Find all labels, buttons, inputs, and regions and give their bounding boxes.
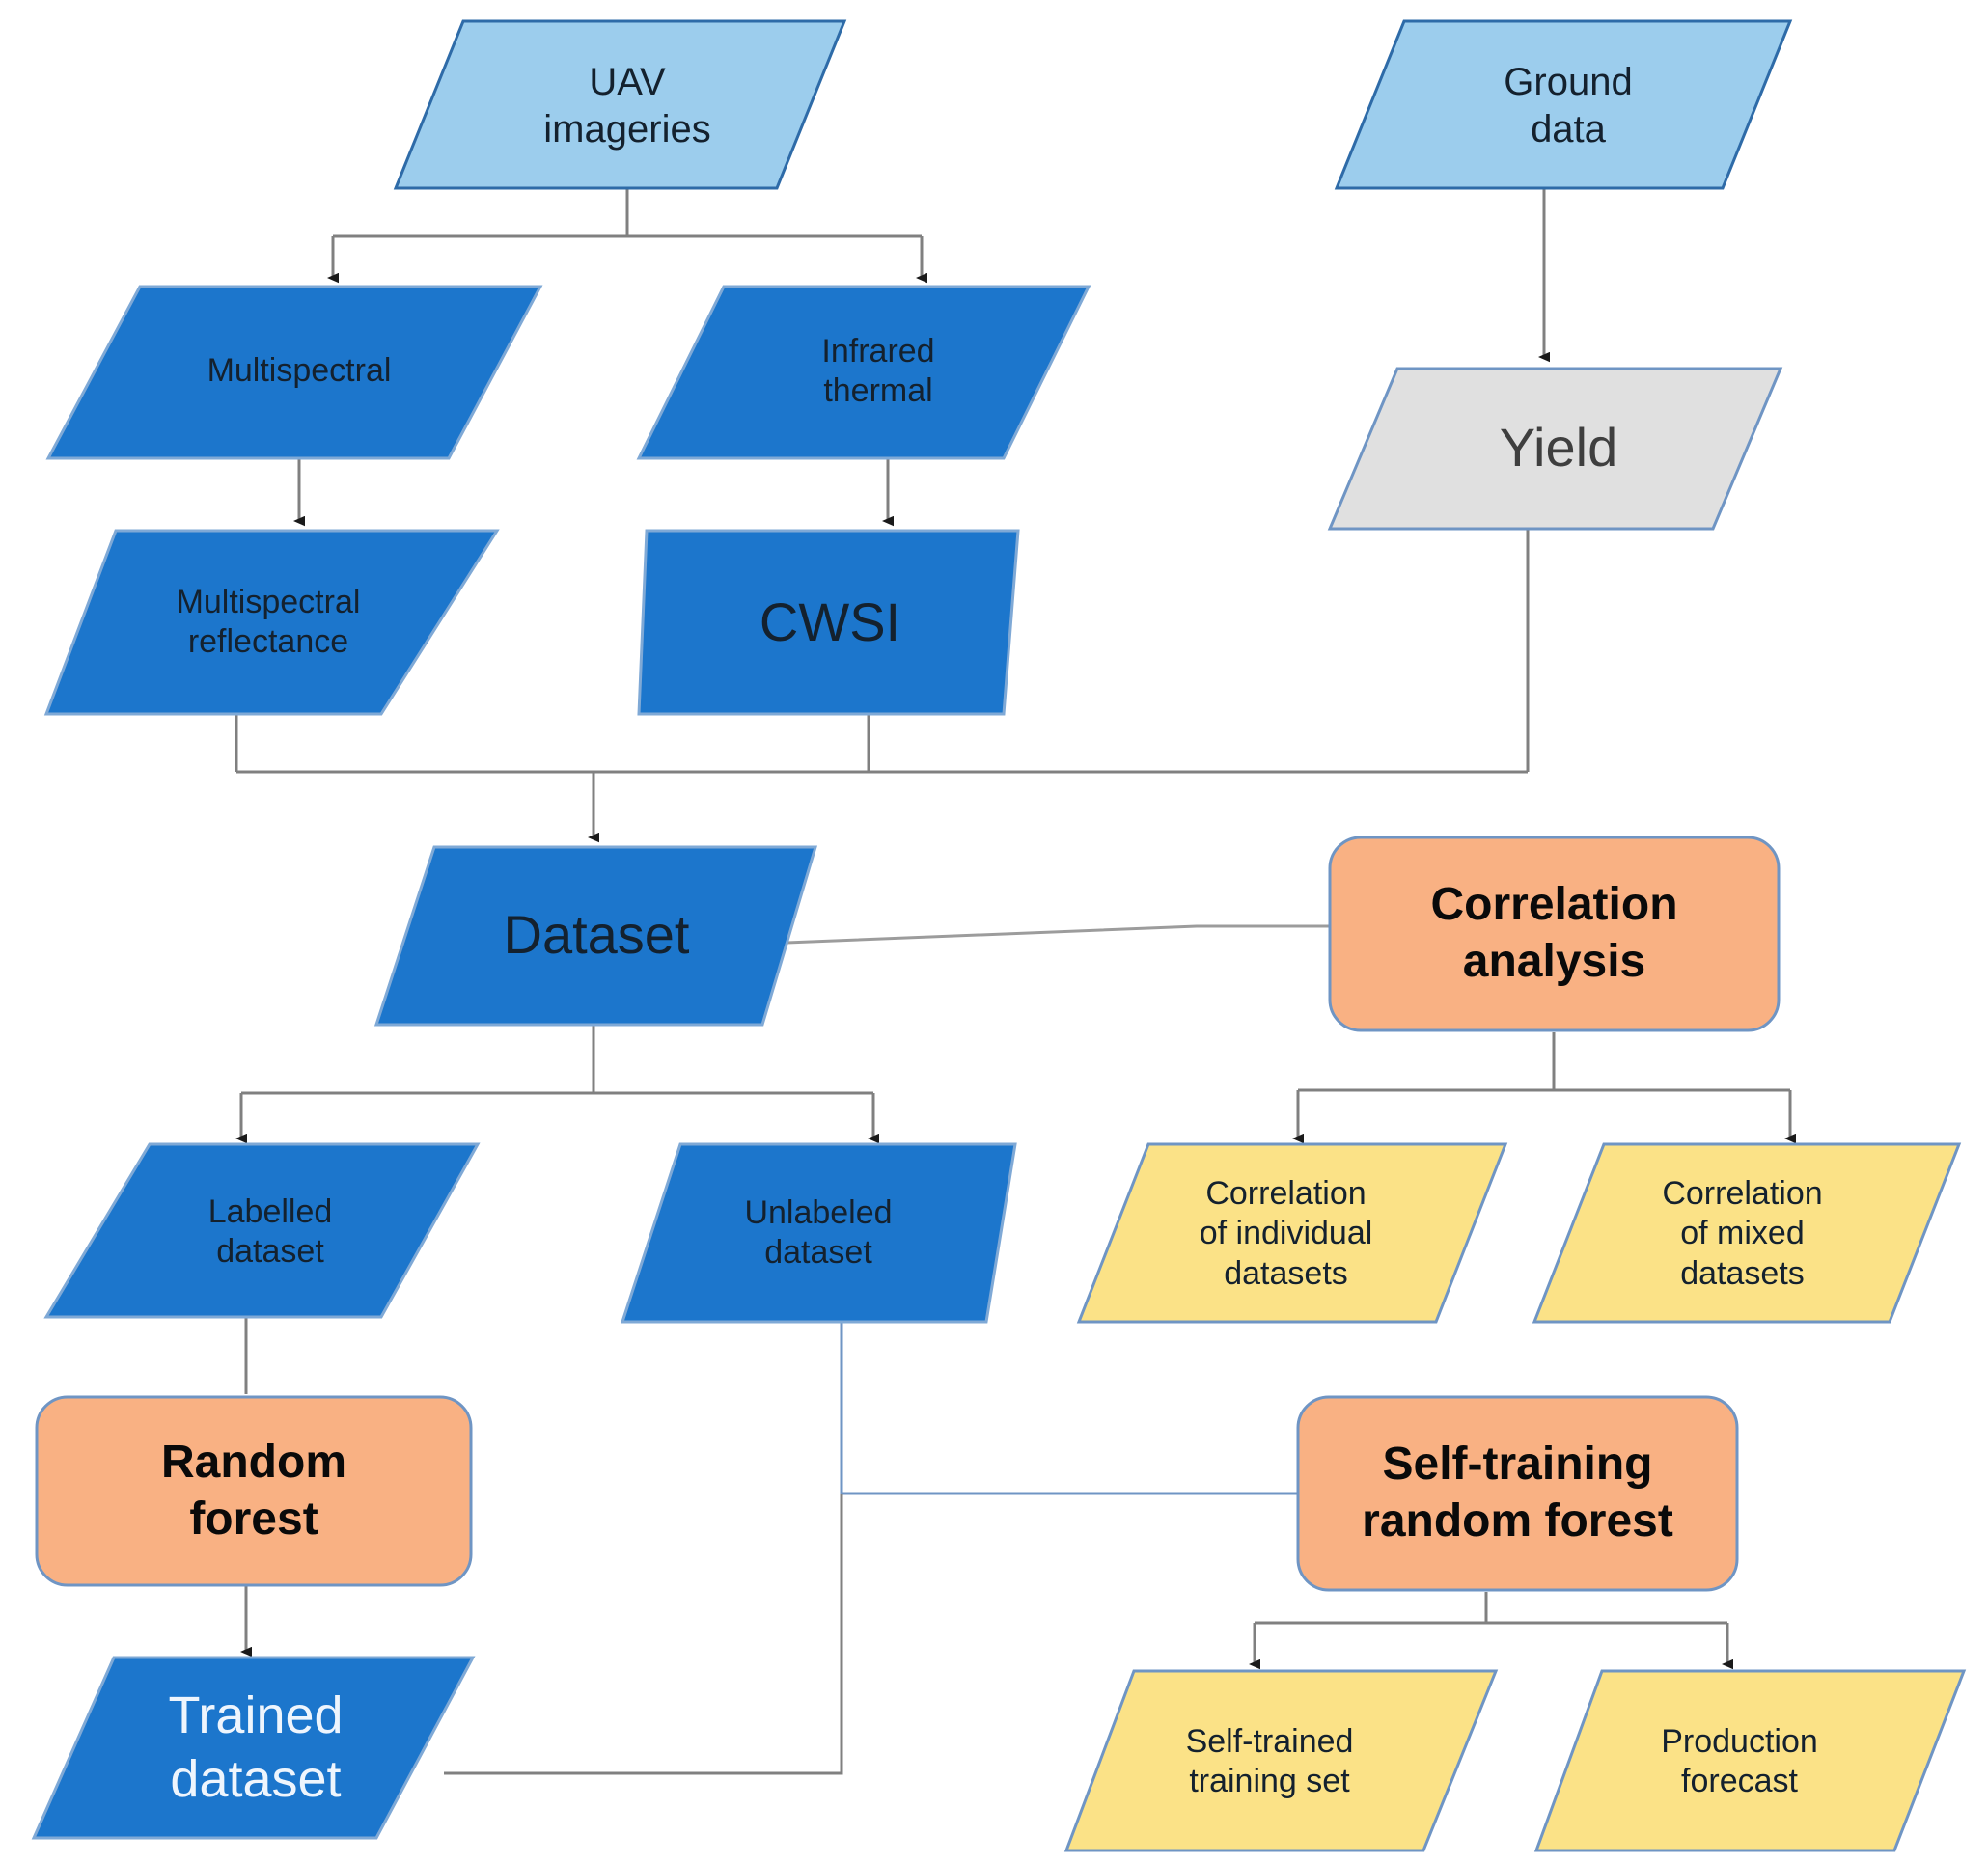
edge-trained-to-self-training	[444, 1494, 842, 1773]
node-labelled-dataset[interactable]	[46, 1144, 478, 1317]
node-yield[interactable]	[1330, 369, 1781, 529]
flowchart-canvas: UAV imageries Ground data Multispectral …	[0, 0, 1988, 1864]
node-uav-imageries[interactable]	[396, 21, 844, 188]
node-self-trained-training-set[interactable]	[1066, 1671, 1496, 1850]
edge-self-training-split	[1255, 1592, 1727, 1623]
node-production-forecast[interactable]	[1536, 1671, 1964, 1850]
edge-dataset-to-correlation	[762, 926, 1330, 944]
node-multispectral-reflectance[interactable]	[46, 531, 497, 714]
node-multispectral[interactable]	[48, 287, 540, 458]
node-dataset[interactable]	[376, 847, 815, 1025]
flowchart-svg	[0, 0, 1988, 1864]
node-ground-data[interactable]	[1337, 21, 1790, 188]
nodes-group	[34, 21, 1964, 1850]
node-cwsi[interactable]	[639, 531, 1018, 714]
node-infrared-thermal[interactable]	[639, 287, 1089, 458]
node-trained-dataset[interactable]	[34, 1658, 473, 1838]
node-correlation-analysis[interactable]	[1330, 837, 1779, 1030]
node-correlation-mixed-datasets[interactable]	[1534, 1144, 1959, 1322]
edge-dataset-split	[241, 1025, 873, 1093]
node-self-training-random-forest[interactable]	[1298, 1397, 1737, 1590]
edge-correlation-split	[1298, 1032, 1790, 1090]
node-random-forest[interactable]	[37, 1397, 471, 1585]
node-unlabeled-dataset[interactable]	[622, 1144, 1015, 1322]
node-correlation-individual-datasets[interactable]	[1079, 1144, 1505, 1322]
edge-uav-split	[333, 188, 922, 236]
